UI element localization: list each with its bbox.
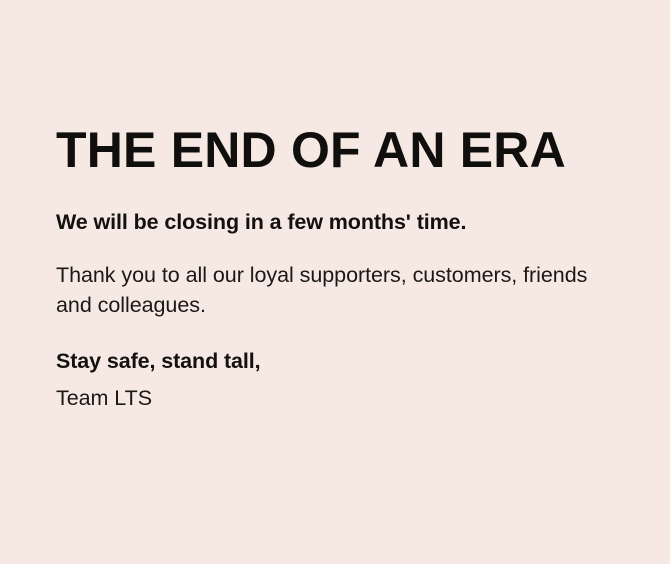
notice-lede: We will be closing in a few months' time…	[56, 177, 616, 237]
notice-signature: Team LTS	[56, 376, 616, 413]
page-title: THE END OF AN ERA	[56, 124, 616, 177]
notice-signoff: Stay safe, stand tall,	[56, 320, 616, 376]
closure-notice-page: THE END OF AN ERA We will be closing in …	[0, 0, 670, 564]
notice-body-paragraph: Thank you to all our loyal supporters, c…	[56, 237, 616, 320]
notice-content-block: THE END OF AN ERA We will be closing in …	[56, 124, 616, 413]
